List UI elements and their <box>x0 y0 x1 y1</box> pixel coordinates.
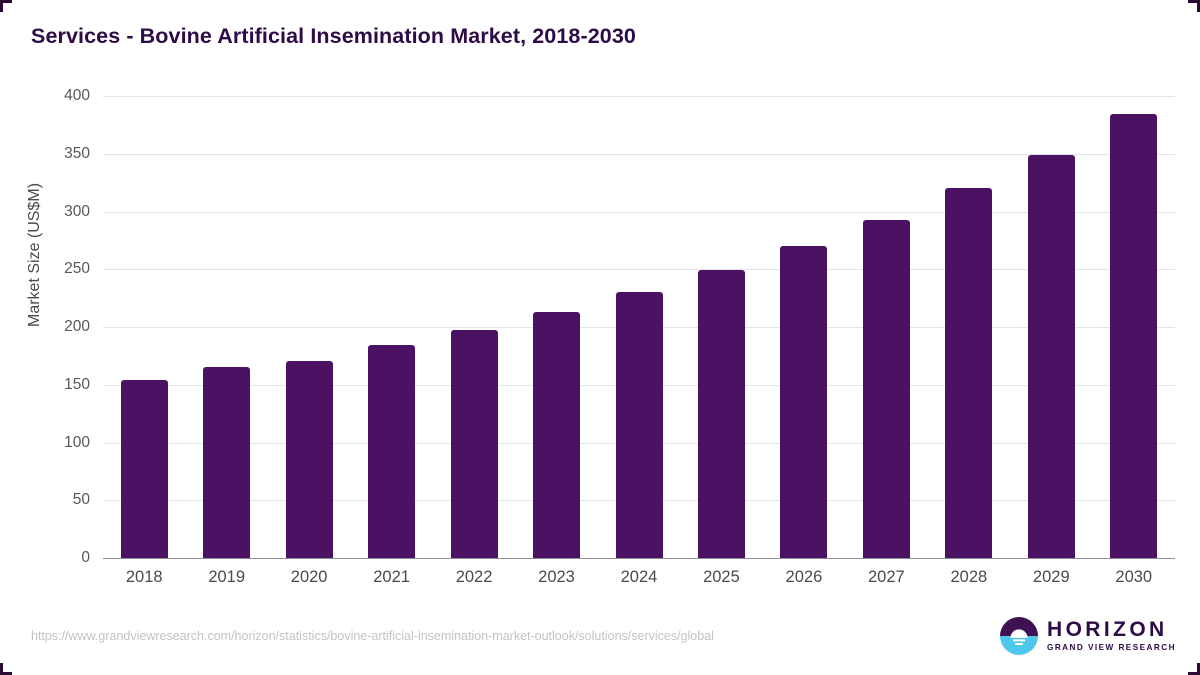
bar-2026[interactable] <box>780 246 827 558</box>
logo-text-block: HORIZON GRAND VIEW RESEARCH <box>1047 619 1176 652</box>
bar-2027[interactable] <box>863 220 910 558</box>
bar-2030[interactable] <box>1110 114 1157 558</box>
y-tick-label: 50 <box>46 491 90 509</box>
bar-2028[interactable] <box>945 188 992 558</box>
x-axis-line <box>103 558 1175 559</box>
bar-2018[interactable] <box>121 380 168 558</box>
x-tick-label-2027: 2027 <box>845 568 927 587</box>
x-tick-label-2025: 2025 <box>680 568 762 587</box>
y-tick-label: 200 <box>46 318 90 336</box>
chart-title: Services - Bovine Artificial Inseminatio… <box>31 24 636 49</box>
x-tick-label-2021: 2021 <box>350 568 432 587</box>
plot-area <box>103 96 1175 558</box>
x-axis-tick-labels: 2018201920202021202220232024202520262027… <box>103 568 1175 598</box>
bar-2024[interactable] <box>616 292 663 558</box>
y-axis-title: Market Size (US$M) <box>26 183 44 327</box>
bar-2020[interactable] <box>286 361 333 559</box>
x-tick-label-2026: 2026 <box>763 568 845 587</box>
brand-logo[interactable]: HORIZON GRAND VIEW RESEARCH <box>1000 617 1176 655</box>
x-tick-label-2020: 2020 <box>268 568 350 587</box>
bar-2025[interactable] <box>698 270 745 558</box>
source-url[interactable]: https://www.grandviewresearch.com/horizo… <box>31 629 714 643</box>
y-tick-label: 350 <box>46 145 90 163</box>
bar-2029[interactable] <box>1028 155 1075 558</box>
frame-corner-bottom-left <box>0 663 12 675</box>
frame-corner-top-right <box>1188 0 1200 12</box>
y-tick-label: 300 <box>46 203 90 221</box>
logo-subtitle: GRAND VIEW RESEARCH <box>1047 644 1176 652</box>
horizon-sun-icon <box>1000 617 1038 655</box>
y-tick-label: 100 <box>46 434 90 452</box>
bar-2022[interactable] <box>451 330 498 558</box>
x-tick-label-2019: 2019 <box>185 568 267 587</box>
bar-2023[interactable] <box>533 312 580 558</box>
logo-wordmark: HORIZON <box>1047 619 1176 640</box>
x-tick-label-2029: 2029 <box>1010 568 1092 587</box>
x-tick-label-2022: 2022 <box>433 568 515 587</box>
chart-page: Services - Bovine Artificial Inseminatio… <box>0 0 1200 675</box>
x-tick-label-2018: 2018 <box>103 568 185 587</box>
bar-2019[interactable] <box>203 367 250 558</box>
bar-series <box>103 96 1175 558</box>
bar-2021[interactable] <box>368 345 415 558</box>
frame-corner-bottom-right <box>1188 663 1200 675</box>
y-tick-label: 150 <box>46 376 90 394</box>
x-tick-label-2028: 2028 <box>928 568 1010 587</box>
x-tick-label-2024: 2024 <box>598 568 680 587</box>
y-tick-label: 0 <box>46 549 90 567</box>
frame-corner-top-left <box>0 0 12 12</box>
y-tick-label: 250 <box>46 260 90 278</box>
x-tick-label-2030: 2030 <box>1093 568 1175 587</box>
x-tick-label-2023: 2023 <box>515 568 597 587</box>
y-tick-label: 400 <box>46 87 90 105</box>
